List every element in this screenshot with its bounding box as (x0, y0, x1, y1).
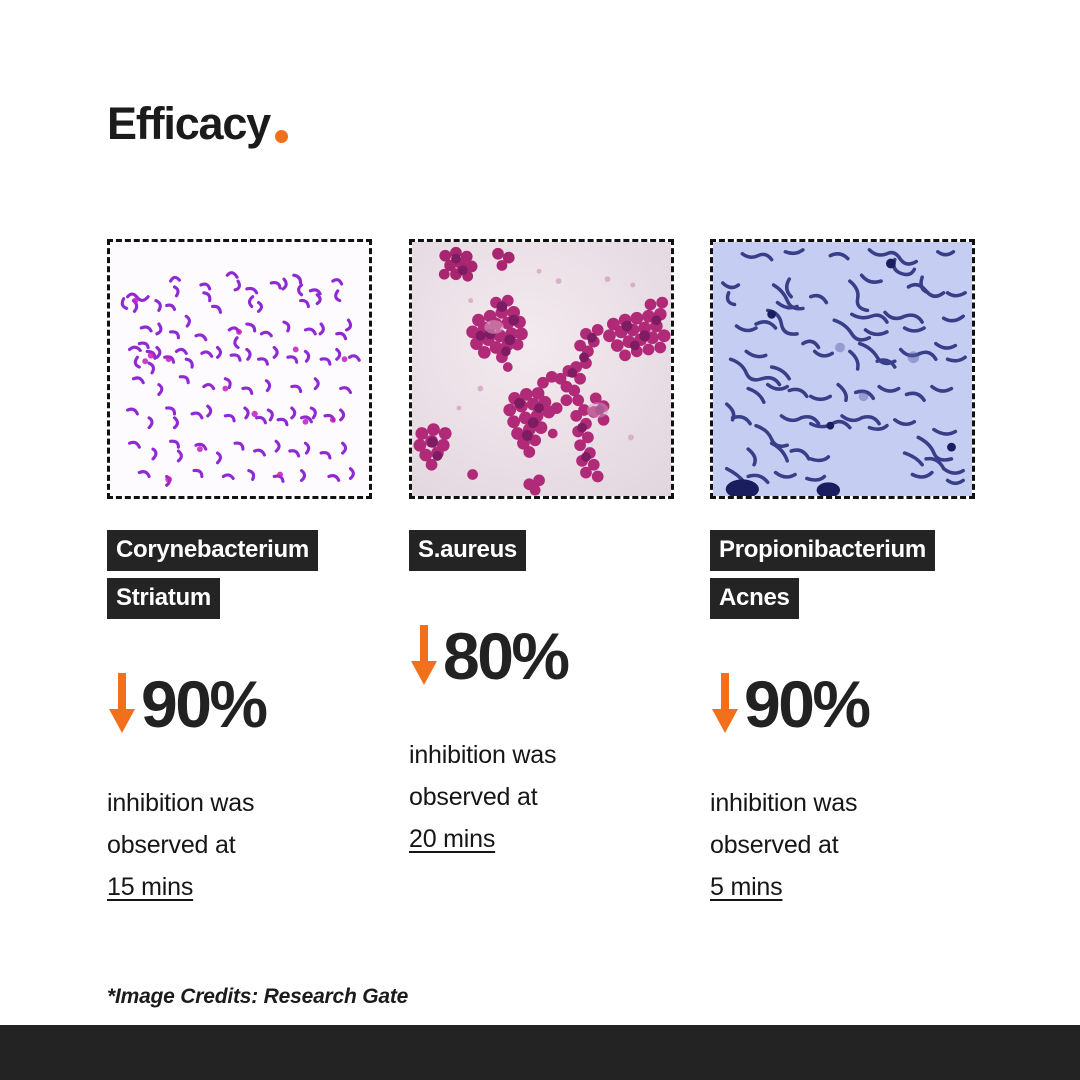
s-aureus-panel (409, 239, 674, 499)
caption-line-2: observed at (409, 776, 674, 818)
species-tag-line: Propionibacterium (710, 530, 935, 571)
caption-line-2: observed at (710, 824, 975, 866)
propionibacterium-acnes-tags: Propionibacterium Acnes (710, 530, 975, 619)
corynebacterium-striatum-micrograph (110, 242, 369, 496)
caption-line-1: inhibition was (409, 734, 674, 776)
observation-time: 20 mins (409, 825, 495, 853)
propionibacterium-acnes-panel (710, 239, 975, 499)
caption-line-2: observed at (107, 824, 372, 866)
efficacy-column-propionibacterium-acnes: Propionibacterium Acnes 90% inhibition w… (710, 239, 975, 908)
inhibition-percent: 90% (141, 671, 266, 737)
propionibacterium-acnes-micrograph (713, 242, 972, 496)
species-tag-line: Striatum (107, 578, 220, 619)
caption-line-1: inhibition was (107, 782, 372, 824)
efficacy-column-corynebacterium-striatum: Corynebacterium Striatum 90% inhibition … (107, 239, 372, 908)
corynebacterium-striatum-panel (107, 239, 372, 499)
corynebacterium-striatum-stat: 90% (107, 671, 372, 737)
page-title-text: Efficacy (107, 101, 270, 146)
arrow-down-icon (107, 673, 137, 735)
inhibition-percent: 80% (443, 623, 568, 689)
corynebacterium-striatum-caption: inhibition was observed at 15 mins (107, 782, 372, 908)
observation-time: 15 mins (107, 873, 193, 901)
accent-dot-icon (275, 130, 288, 143)
species-tag-line: S.aureus (409, 530, 526, 571)
s-aureus-caption: inhibition was observed at 20 mins (409, 734, 674, 860)
efficacy-columns: Corynebacterium Striatum 90% inhibition … (107, 239, 973, 908)
micrograph-svg-3 (713, 242, 972, 496)
micrograph-svg-2 (412, 242, 671, 496)
arrow-down-icon (710, 673, 740, 735)
observation-time: 5 mins (710, 873, 782, 901)
propionibacterium-acnes-caption: inhibition was observed at 5 mins (710, 782, 975, 908)
s-aureus-tags: S.aureus (409, 530, 674, 571)
inhibition-percent: 90% (744, 671, 869, 737)
species-tag-line: Acnes (710, 578, 799, 619)
efficacy-column-s-aureus: S.aureus 80% inhibition was observed at … (409, 239, 674, 908)
s-aureus-stat: 80% (409, 623, 674, 689)
bottom-bar (0, 1025, 1080, 1080)
caption-line-1: inhibition was (710, 782, 975, 824)
micrograph-svg-1 (110, 242, 369, 496)
species-tag-line: Corynebacterium (107, 530, 318, 571)
efficacy-slide: Efficacy (0, 0, 1080, 1080)
arrow-down-icon (409, 625, 439, 687)
propionibacterium-acnes-stat: 90% (710, 671, 975, 737)
s-aureus-micrograph (412, 242, 671, 496)
corynebacterium-striatum-tags: Corynebacterium Striatum (107, 530, 372, 619)
page-title: Efficacy (107, 101, 288, 146)
image-credits: *Image Credits: Research Gate (107, 985, 408, 1009)
